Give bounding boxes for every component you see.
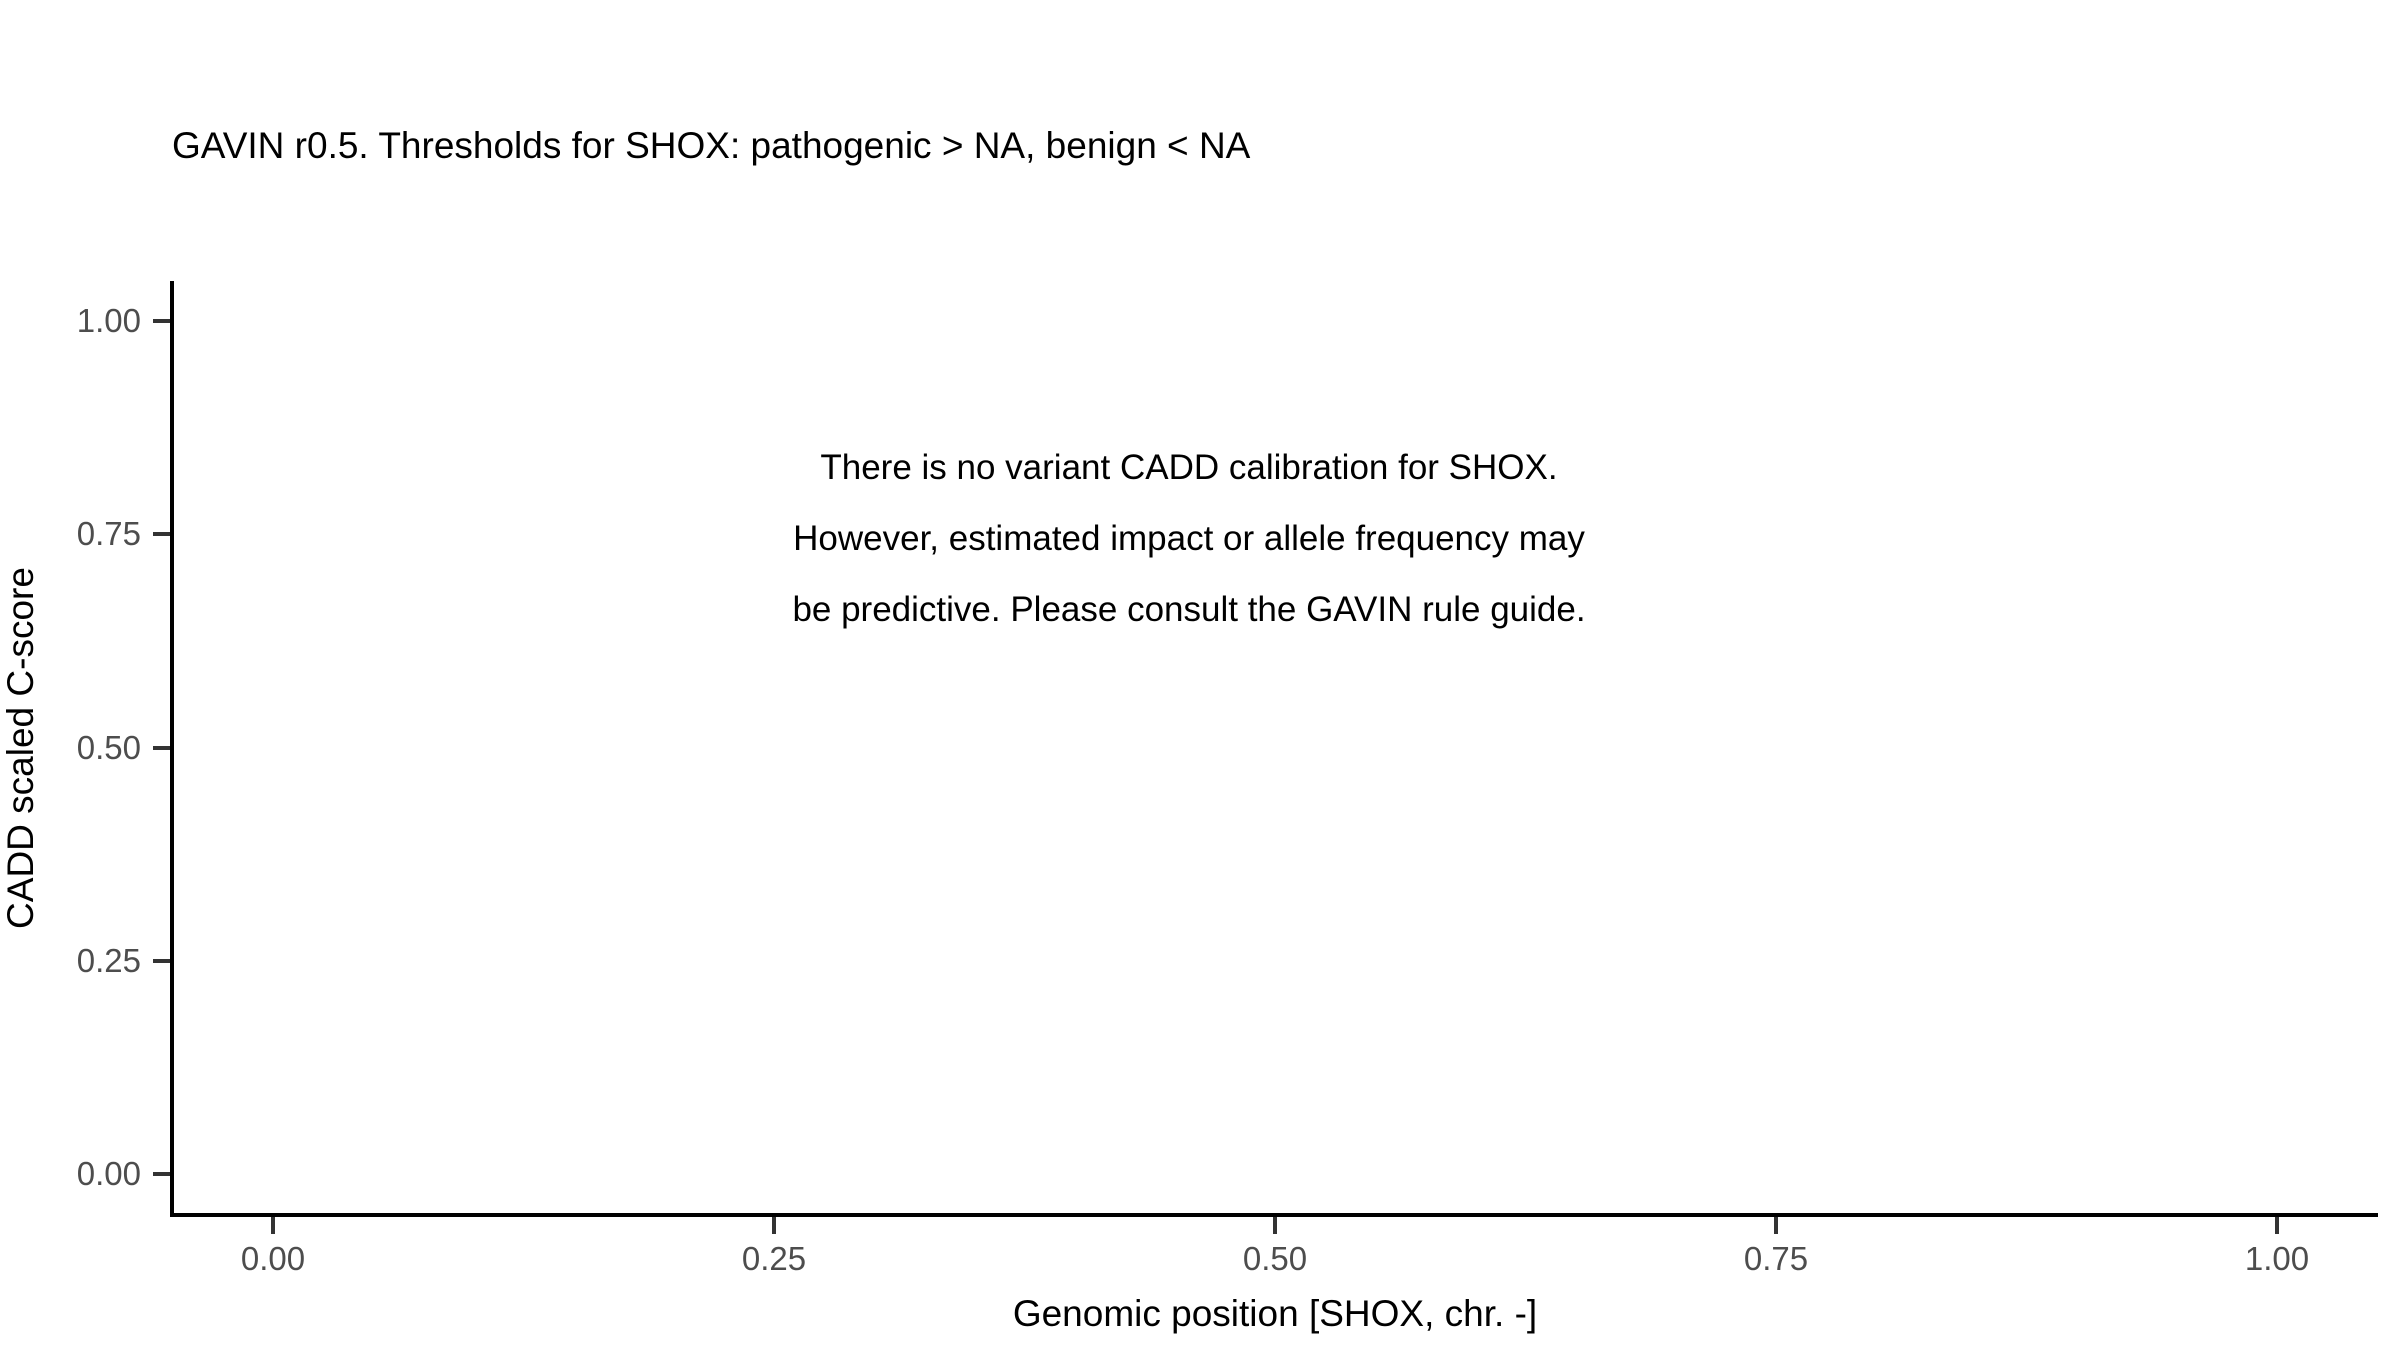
x-tick-label-0.75: 0.75 — [1576, 1240, 1976, 1278]
plot-panel — [172, 281, 2378, 1215]
x-tick-label-1.00: 1.00 — [2077, 1240, 2400, 1278]
x-axis-title: Genomic position [SHOX, chr. -] — [172, 1293, 2378, 1335]
x-tick-mark-0.50 — [1273, 1217, 1277, 1234]
y-tick-mark-0.25 — [153, 959, 170, 963]
annotation-line-2: However, estimated impact or allele freq… — [479, 503, 1899, 574]
y-tick-mark-1.00 — [153, 319, 170, 323]
chart-title-line-1: GAVIN r0.5. Thresholds for SHOX: pathoge… — [172, 118, 2372, 173]
annotation-line-1: There is no variant CADD calibration for… — [479, 432, 1899, 503]
no-calibration-annotation: There is no variant CADD calibration for… — [479, 432, 1899, 645]
x-tick-mark-0.25 — [772, 1217, 776, 1234]
y-axis-line — [170, 281, 174, 1217]
annotation-line-3: be predictive. Please consult the GAVIN … — [479, 574, 1899, 645]
x-tick-label-0.00: 0.00 — [73, 1240, 473, 1278]
y-axis-title: CADD scaled C-score — [0, 278, 42, 1218]
y-tick-mark-0.00 — [153, 1172, 170, 1176]
x-tick-label-0.25: 0.25 — [574, 1240, 974, 1278]
x-tick-label-0.50: 0.50 — [1075, 1240, 1475, 1278]
y-tick-mark-0.50 — [153, 746, 170, 750]
chart-canvas: GAVIN r0.5. Thresholds for SHOX: pathoge… — [0, 0, 2400, 1350]
x-tick-mark-1.00 — [2275, 1217, 2279, 1234]
x-tick-mark-0.75 — [1774, 1217, 1778, 1234]
x-tick-mark-0.00 — [271, 1217, 275, 1234]
y-tick-mark-0.75 — [153, 532, 170, 536]
